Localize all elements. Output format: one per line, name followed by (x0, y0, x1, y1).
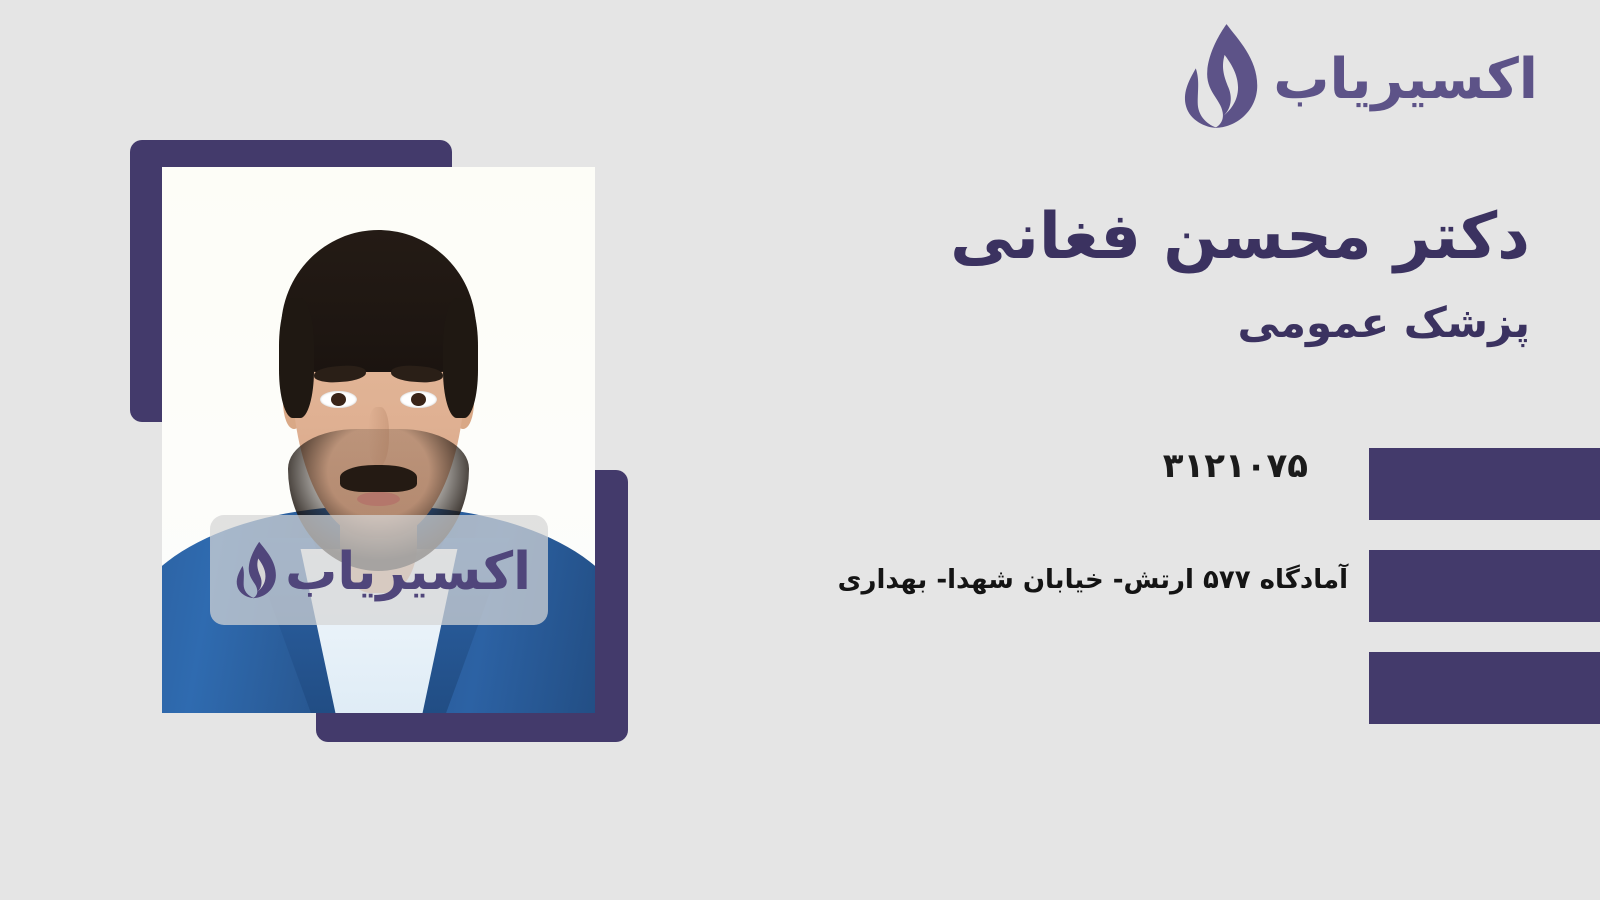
doctor-photo: اکسیریاب (162, 167, 595, 713)
flame-droplet-icon (227, 539, 279, 601)
doctor-specialty: پزشک عمومی (810, 298, 1530, 348)
doctor-info: دکتر محسن فغانی پزشک عمومی ۳۱۲۱۰۷۵ آمادگ… (810, 200, 1530, 348)
decorative-bar-3 (1369, 652, 1600, 724)
decorative-bar-1 (1369, 448, 1600, 520)
flame-droplet-icon (1167, 22, 1263, 130)
doctor-phone[interactable]: ۳۱۲۱۰۷۵ (1163, 446, 1308, 487)
watermark-text: اکسیریاب (285, 546, 531, 598)
brand-wordmark: اکسیریاب (1273, 52, 1538, 108)
doctor-name: دکتر محسن فغانی (810, 200, 1530, 276)
doctor-address: آمادگاه ۵۷۷ ارتش- خیابان شهدا- بهداری (838, 564, 1348, 598)
decorative-bar-2 (1369, 550, 1600, 622)
photo-watermark: اکسیریاب (210, 515, 548, 625)
doctor-photo-block: اکسیریاب (130, 140, 630, 742)
brand-logo[interactable]: اکسیریاب (1167, 22, 1538, 130)
doctor-profile-card: اکسیریاب (0, 0, 1600, 900)
portrait-illustration (162, 167, 595, 713)
